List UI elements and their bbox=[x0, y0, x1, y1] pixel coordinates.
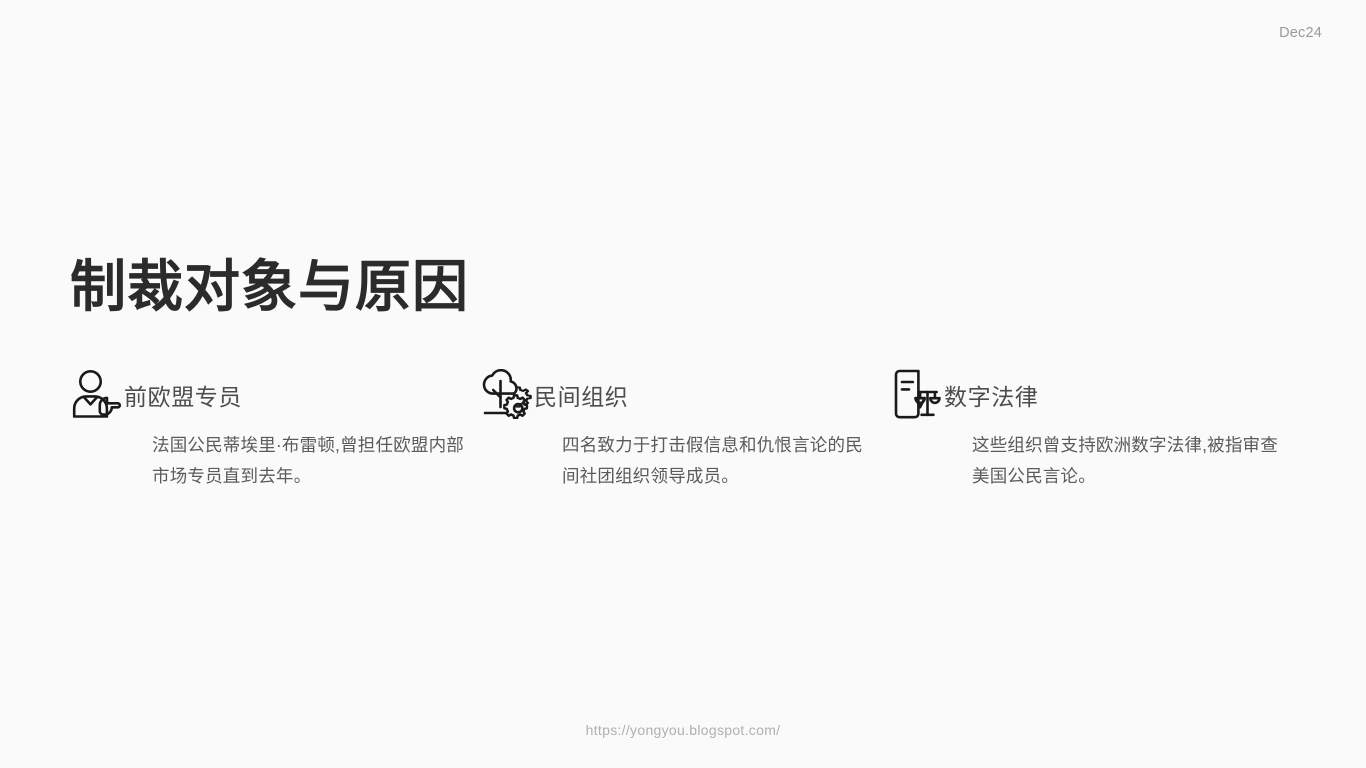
feature-columns: 前欧盟专员 法国公民蒂埃里·布雷顿,曾担任欧盟内部市场专员直到去年。 bbox=[70, 368, 1300, 492]
feature-column-header: 民间组织 bbox=[480, 368, 890, 420]
footer-url: https://yongyou.blogspot.com/ bbox=[0, 723, 1366, 737]
feature-column-title: 前欧盟专员 bbox=[124, 368, 242, 409]
feature-column-body: 这些组织曾支持欧洲数字法律,被指审查美国公民言论。 bbox=[972, 430, 1284, 492]
feature-column: 前欧盟专员 法国公民蒂埃里·布雷顿,曾担任欧盟内部市场专员直到去年。 bbox=[70, 368, 480, 492]
feature-column-title: 数字法律 bbox=[944, 368, 1038, 409]
feature-column-body: 法国公民蒂埃里·布雷顿,曾担任欧盟内部市场专员直到去年。 bbox=[152, 430, 470, 492]
feature-column: 数字法律 这些组织曾支持欧洲数字法律,被指审查美国公民言论。 bbox=[890, 368, 1300, 492]
date-stamp: Dec24 bbox=[1279, 26, 1322, 41]
feature-column-body: 四名致力于打击假信息和仇恨言论的民间社团组织领导成员。 bbox=[562, 430, 874, 492]
feature-column-title: 民间组织 bbox=[534, 368, 628, 409]
person-pointing-icon bbox=[70, 368, 124, 420]
slide-canvas: Dec24 制裁对象与原因 前欧盟专员 法国公民蒂埃里·布雷顿,曾担任欧盟内部市… bbox=[0, 0, 1366, 768]
feature-column-header: 前欧盟专员 bbox=[70, 368, 480, 420]
cloud-download-gear-icon bbox=[480, 368, 534, 420]
feature-column-header: 数字法律 bbox=[890, 368, 1300, 420]
feature-column: 民间组织 四名致力于打击假信息和仇恨言论的民间社团组织领导成员。 bbox=[480, 368, 890, 492]
document-scales-icon bbox=[890, 368, 944, 420]
page-title: 制裁对象与原因 bbox=[70, 256, 469, 319]
